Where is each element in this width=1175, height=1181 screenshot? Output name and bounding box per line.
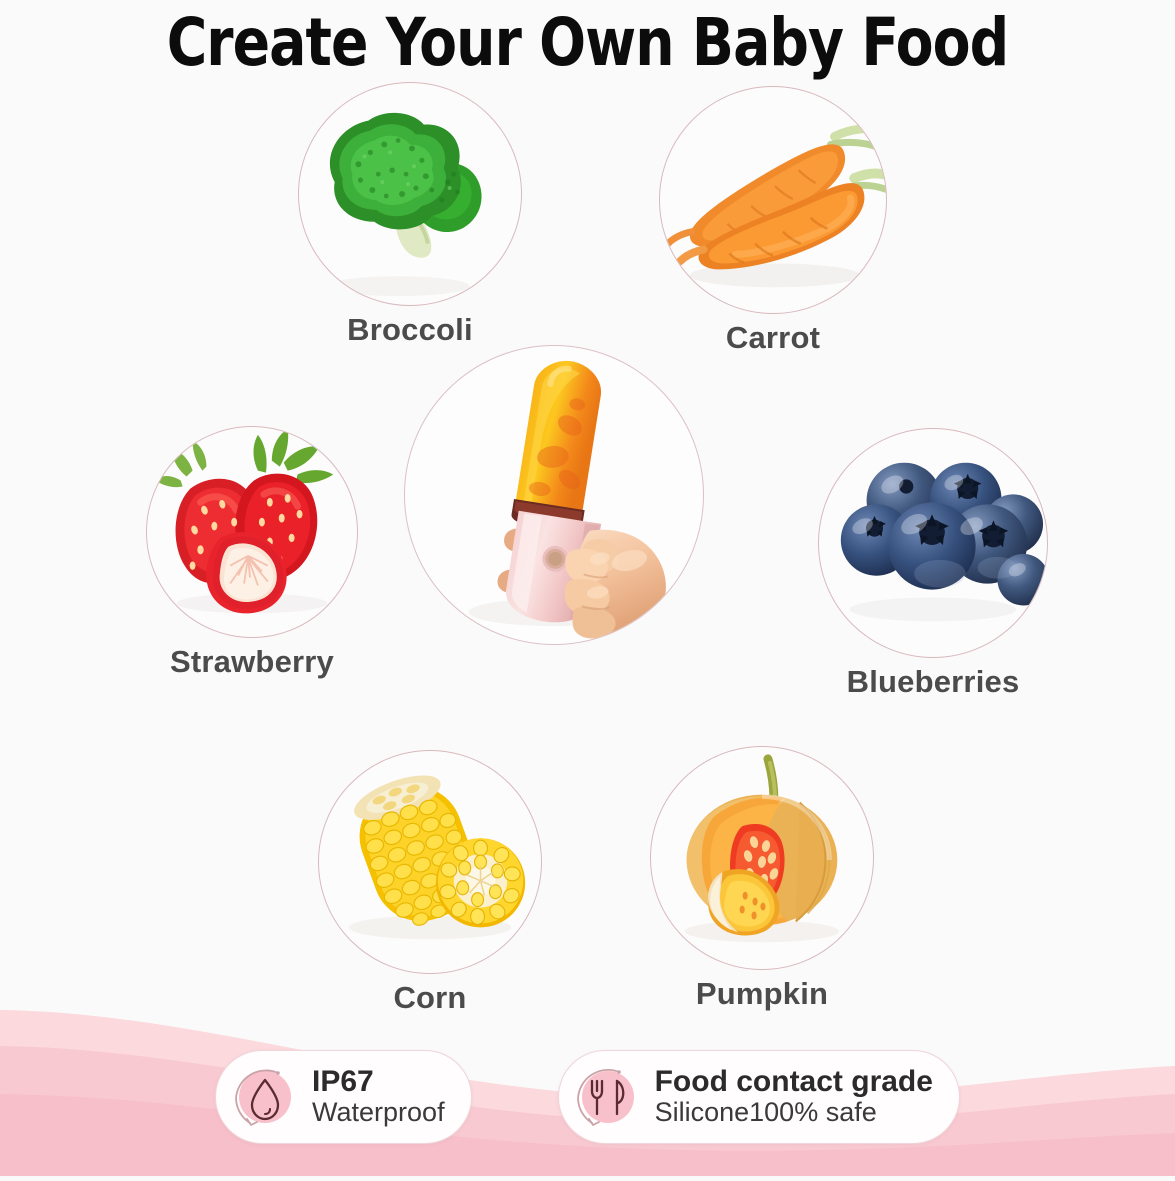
badge-subtitle: Silicone100% safe <box>655 1097 933 1127</box>
broccoli-photo <box>298 82 522 306</box>
badge-title: Food contact grade <box>655 1066 933 1097</box>
ingredient-label: Pumpkin <box>650 976 874 1012</box>
ingredient-label: Broccoli <box>298 312 522 348</box>
product-center[interactable] <box>404 345 704 645</box>
page-title: Create Your Own Baby Food <box>41 4 1134 81</box>
ingredient-label: Corn <box>318 980 542 1016</box>
ingredient-broccoli[interactable]: Broccoli <box>298 82 522 348</box>
ingredient-label: Blueberries <box>818 664 1048 700</box>
feature-badges: IP67 Waterproof <box>0 1050 1175 1144</box>
ingredient-blueberries[interactable]: Blueberries <box>818 428 1048 700</box>
strawberry-photo <box>146 426 358 638</box>
ingredient-pumpkin[interactable]: Pumpkin <box>650 746 874 1012</box>
ingredient-strawberry[interactable]: Strawberry <box>146 426 358 680</box>
hand-holding-baby-food-blender <box>404 345 704 645</box>
badge-title: IP67 <box>312 1066 445 1097</box>
ingredient-label: Strawberry <box>146 644 358 680</box>
fork-knife-icon <box>571 1060 645 1134</box>
blueberries-photo <box>818 428 1048 658</box>
pumpkin-photo <box>650 746 874 970</box>
ingredient-carrot[interactable]: Carrot <box>659 86 887 356</box>
carrot-photo <box>659 86 887 314</box>
badge-food-contact-grade[interactable]: Food contact grade Silicone100% safe <box>558 1050 960 1144</box>
badge-subtitle: Waterproof <box>312 1097 445 1127</box>
corn-photo <box>318 750 542 974</box>
badge-waterproof[interactable]: IP67 Waterproof <box>215 1050 472 1144</box>
ingredient-corn[interactable]: Corn <box>318 750 542 1016</box>
water-droplet-icon <box>228 1060 302 1134</box>
